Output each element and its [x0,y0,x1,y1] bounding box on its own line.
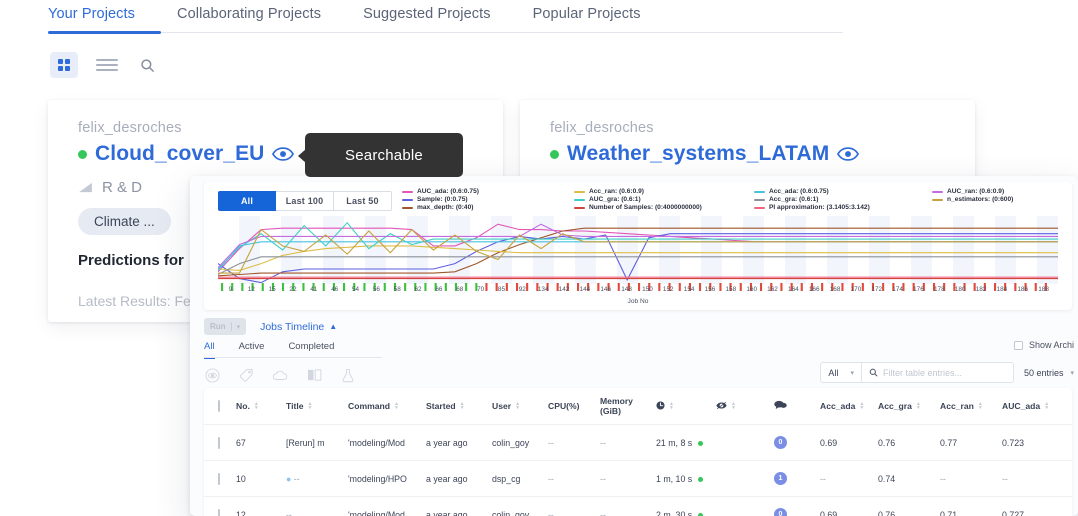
legend-swatch [754,207,765,209]
legend-item[interactable]: Acc_gra: (0.6:1) [754,196,932,203]
cell-acc-gra: 0.76 [878,425,940,461]
table-filters: All ▾ Filter table entries... 50 entries… [820,362,1074,383]
sort-icon[interactable]: ▲▼ [916,402,921,410]
th-label: CPU(%) [548,401,580,411]
th-title[interactable]: Title▲▼ [286,388,348,425]
search-icon[interactable] [136,54,158,76]
cell-cpu: -- [548,497,600,516]
entries-per-page-select[interactable]: 50 entries ▾ [1024,368,1074,378]
grid-view-icon [58,59,70,71]
cell-started: a year ago [426,461,492,497]
row-checkbox[interactable] [218,509,220,516]
status-dot [698,477,703,482]
cell-acc-ran: 0.71 [940,497,1002,516]
x-tick-label: 9 [229,286,233,293]
entries-per-page-value: 50 entries [1024,368,1064,378]
row-checkbox[interactable] [218,473,220,485]
sort-icon[interactable]: ▲▼ [978,402,983,410]
x-tick-label: 154 [684,286,695,293]
x-tick-label: 188 [1038,286,1049,293]
x-tick-label: 182 [976,286,987,293]
th-comments[interactable] [774,388,820,425]
th-no[interactable]: No.▲▼ [236,388,286,425]
x-tick-label: 162 [767,286,778,293]
jobs-table: No.▲▼ Title▲▼ Command▲▼ Started▲▼ User▲▼… [204,388,1072,516]
x-tick-label: 54 [352,286,359,293]
x-tick-label: 134 [538,286,549,293]
legend-label: Acc_ada: (0.6:0.75) [769,188,829,195]
legend-label: AUC_ada: (0.6:0.75) [417,188,479,195]
row-checkbox-cell[interactable] [204,461,236,497]
legend-item[interactable]: AUC_gra: (0.6:1) [574,196,754,203]
sort-icon[interactable]: ▲▼ [859,402,864,410]
row-checkbox[interactable] [218,437,220,449]
cell-user: colin_goy [492,497,548,516]
duration-text: 1 m, 10 s [656,474,692,484]
cell-memory: -- [600,461,656,497]
chevron-down-icon: ▾ [850,369,854,377]
row-checkbox-cell[interactable] [204,497,236,516]
eye-hidden-icon [716,401,727,412]
duration-text: 2 m, 30 s [656,510,692,516]
card-owner: felix_desroches [550,120,951,136]
table-row[interactable]: 12 -- 'modeling/Mod a year ago colin_goy… [204,497,1072,516]
job-tick-marks [218,278,1058,286]
th-label: Acc_ran [940,401,974,411]
x-tick-label: 66 [435,286,442,293]
status-badge [550,150,559,159]
cell-comments: 1 [774,461,820,497]
tag-icon[interactable] [238,367,254,383]
x-tick-label: 12 [248,286,255,293]
th-acc-ran[interactable]: Acc_ran▲▼ [940,388,1002,425]
legend-swatch [402,191,413,193]
legend-label: PI approximation: (3.1405:3.142) [769,204,870,211]
legend-label: Sample: (0:0.75) [417,196,468,203]
cell-title: -- [286,497,348,516]
legend-swatch [932,191,943,193]
th-select-all[interactable] [204,388,236,425]
th-label: Started [426,401,456,411]
legend-swatch [402,207,413,209]
th-duration[interactable]: ▲▼ [656,388,716,425]
legend-label: AUC_gra: (0.6:1) [589,196,641,203]
comment-icon [774,402,787,412]
legend-item[interactable]: Acc_ada: (0.6:0.75) [754,188,932,195]
x-tick-label: 22 [289,286,296,293]
experiment-dashboard-panel: All Last 100 Last 50 AUC_ada: (0.6:0.75)… [190,176,1078,516]
comment-count-badge: 0 [774,508,787,516]
sort-icon[interactable]: ▲▼ [669,402,674,410]
signal-icon [78,182,93,193]
cell-memory: -- [600,497,656,516]
searchable-tooltip: Searchable [305,133,463,177]
x-tick-label: 85 [498,286,505,293]
projects-tabbar: Your Projects Collaborating Projects Sug… [0,0,1078,36]
legend-item[interactable]: n_estimators: (0:600) [932,196,1062,203]
range-tab-last-50[interactable]: Last 50 [334,191,392,211]
sort-icon[interactable]: ▲▼ [308,402,313,410]
filter-column-value: All [828,368,838,378]
x-tick-label: 178 [934,286,945,293]
cell-visibility [716,425,774,461]
legend-swatch [574,199,585,201]
legend-swatch [754,191,765,193]
cloud-icon[interactable] [272,367,288,383]
th-label: Command [348,401,390,411]
cell-cpu: -- [548,461,600,497]
eye-icon[interactable] [272,147,294,161]
list-view-icon[interactable] [96,54,118,76]
cell-command: 'modeling/Mod [348,425,426,461]
compare-icon[interactable] [306,367,322,383]
jobs-line-chart [218,216,1058,284]
jobs-action-icons [204,367,356,383]
cell-acc-ran: -- [940,461,1002,497]
jobs-timeline-toggle[interactable]: Jobs Timeline ▲ [260,321,337,333]
th-command[interactable]: Command▲▼ [348,388,426,425]
legend-item[interactable]: AUC_ada: (0.6:0.75) [402,188,574,195]
sort-icon[interactable]: ▲▼ [460,402,465,410]
experiment-icon[interactable] [340,367,356,383]
chart-range-tabs: All Last 100 Last 50 [218,191,392,211]
app-root: Your Projects Collaborating Projects Sug… [0,0,1078,516]
legend-swatch [574,191,585,193]
cell-acc-ada: -- [820,461,878,497]
th-user[interactable]: User▲▼ [492,388,548,425]
cell-comments: 0 [774,497,820,516]
x-tick-label: 68 [456,286,463,293]
x-tick-label: 148 [621,286,632,293]
tab-collaborating-projects[interactable]: Collaborating Projects [177,0,321,33]
run-button-divider [231,322,232,331]
filter-search-box[interactable]: Filter table entries... [862,362,1014,383]
x-tick-label: 172 [871,286,882,293]
cell-visibility [716,497,774,516]
legend-item[interactable]: AUC_ran: (0.6:0.9) [932,188,1062,195]
show-archived-checkbox[interactable] [1014,341,1023,350]
x-tick-label: 58 [394,286,401,293]
status-dot [698,441,703,446]
th-label: Title [286,401,304,411]
filter-input-placeholder: Filter table entries... [883,368,962,378]
x-tick-label: 158 [725,286,736,293]
cell-auc-ada: 0.727 [1002,497,1072,516]
th-label: Acc_ada [820,401,855,411]
x-tick-label: 62 [415,286,422,293]
legend-label: max_depth: (0:40) [417,204,473,211]
view-controls [50,52,158,78]
legend-label: Acc_ran: (0.6:0.9) [589,188,644,195]
chart-svg [218,216,1058,284]
sort-icon[interactable]: ▲▼ [394,402,399,410]
chart-legend: AUC_ada: (0.6:0.75) Sample: (0:0.75) max… [402,188,1062,211]
cell-duration: 2 m, 30 s [656,497,716,516]
run-button-label: Run [210,322,226,331]
x-tick-label: 176 [913,286,924,293]
cell-user: dsp_cg [492,461,548,497]
x-tick-label: 186 [1017,286,1028,293]
cell-no: 12 [236,497,286,516]
cell-started: a year ago [426,425,492,461]
cell-visibility [716,461,774,497]
select-all-checkbox[interactable] [218,400,220,412]
legend-label: AUC_ran: (0.6:0.9) [947,188,1004,195]
chevron-down-icon[interactable]: ▾ [237,323,241,331]
active-tab-indicator [48,31,161,34]
legend-swatch [574,207,585,209]
th-acc-gra[interactable]: Acc_gra▲▼ [878,388,940,425]
legend-label: Number of Samples: (0:4000000000) [589,204,702,211]
x-tick-label: 166 [809,286,820,293]
th-acc-ada[interactable]: Acc_ada▲▼ [820,388,878,425]
x-tick-label: 70 [477,286,484,293]
chevron-down-icon: ▾ [1070,369,1074,377]
range-tab-last-100[interactable]: Last 100 [276,191,334,211]
th-label: No. [236,401,250,411]
eye-icon[interactable] [204,367,220,383]
comment-count-badge: 0 [774,436,787,449]
x-tick-label: 142 [559,286,570,293]
legend-item[interactable]: Number of Samples: (0:4000000000) [574,204,754,211]
legend-item[interactable]: max_depth: (0:40) [402,204,574,211]
clock-icon [656,401,665,412]
cell-acc-gra: 0.76 [878,497,940,516]
legend-swatch [932,199,943,201]
legend-label: n_estimators: (0:600) [947,196,1013,203]
x-tick-label: 170 [851,286,862,293]
sort-icon[interactable]: ▲▼ [515,402,520,410]
cell-acc-gra: 0.74 [878,461,940,497]
show-archived-label: Show Archi [1029,340,1074,350]
range-tab-all[interactable]: All [218,191,276,211]
x-tick-label: 146 [600,286,611,293]
cell-duration: 21 m, 8 s [656,425,716,461]
chart-x-axis-label: Job No [204,298,1072,305]
x-tick-label: 152 [663,286,674,293]
cell-auc-ada: -- [1002,461,1072,497]
x-tick-label: 184 [997,286,1008,293]
x-tick-label: 180 [955,286,966,293]
legend-item[interactable]: Sample: (0:0.75) [402,196,574,203]
project-title-link[interactable]: Cloud_cover_EU [95,142,264,166]
droplet-icon: ● [286,474,291,484]
filter-column-select[interactable]: All ▾ [820,362,862,383]
th-started[interactable]: Started▲▼ [426,388,492,425]
sort-icon[interactable]: ▲▼ [731,402,736,410]
th-label: Acc_gra [878,401,912,411]
x-tick-label: 144 [580,286,591,293]
x-tick-label: 168 [830,286,841,293]
sort-icon[interactable]: ▲▼ [254,402,259,410]
search-icon [869,364,878,382]
cell-command: 'modeling/Mod [348,497,426,516]
comment-count-badge: 1 [774,472,787,485]
x-tick-label: 56 [373,286,380,293]
tab-popular-projects[interactable]: Popular Projects [533,0,641,33]
th-visibility[interactable]: ▲▼ [716,388,774,425]
x-tick-label: 160 [746,286,757,293]
cell-user: colin_goy [492,425,548,461]
th-memory[interactable]: Memory (GiB) [600,388,656,425]
legend-swatch [402,199,413,201]
table-row[interactable]: 67 [Rerun] m 'modeling/Mod a year ago co… [204,425,1072,461]
jobs-tabs-divider [204,357,382,358]
x-tick-label: 156 [705,286,716,293]
x-tick-label: 164 [788,286,799,293]
cell-title: ● -- [286,461,348,497]
project-title-link[interactable]: Weather_systems_LATAM [567,142,829,166]
cell-acc-ada: 0.69 [820,497,878,516]
th-label: User [492,401,511,411]
tab-suggested-projects[interactable]: Suggested Projects [363,0,491,33]
legend-item[interactable]: Acc_ran: (0.6:0.9) [574,188,754,195]
duration-text: 21 m, 8 s [656,438,692,448]
table-header-row: No.▲▼ Title▲▼ Command▲▼ Started▲▼ User▲▼… [204,388,1072,425]
cell-comments: 0 [774,425,820,461]
cell-command: 'modeling/HPO [348,461,426,497]
cell-acc-ada: 0.69 [820,425,878,461]
th-label: AUC_ada [1002,401,1040,411]
th-auc-ada[interactable]: AUC_ada▲▼ [1002,388,1072,425]
tab-your-projects[interactable]: Your Projects [48,0,135,33]
x-tick-label: 41 [310,286,317,293]
legend-label: Acc_gra: (0.6:1) [769,196,818,203]
x-tick-label: 174 [892,286,903,293]
card-tag-chip[interactable]: Climate ... [78,208,171,235]
title-text: -- [294,474,300,484]
cell-duration: 1 m, 10 s [656,461,716,497]
cell-title: [Rerun] m [286,425,348,461]
table-row[interactable]: 10 ● -- 'modeling/HPO a year ago dsp_cg … [204,461,1072,497]
th-label: Memory (GiB) [600,396,656,416]
x-tick-label: 150 [642,286,653,293]
eye-icon[interactable] [837,147,859,161]
cell-memory: -- [600,425,656,461]
status-badge [78,150,87,159]
jobs-chart-card: All Last 100 Last 50 AUC_ada: (0.6:0.75)… [204,182,1072,310]
cell-no: 10 [236,461,286,497]
chart-x-axis: 9121522414654565862666870859213414214414… [212,286,1068,298]
grid-view-button[interactable] [50,52,78,78]
x-tick-label: 46 [331,286,338,293]
row-checkbox-cell[interactable] [204,425,236,461]
legend-swatch [754,199,765,201]
show-archived-toggle[interactable]: Show Archi [1014,340,1074,350]
caret-up-icon: ▲ [329,322,337,331]
th-cpu[interactable]: CPU(%) [548,388,600,425]
jobs-timeline-header: Run ▾ Jobs Timeline ▲ [204,318,337,335]
x-tick-label: 15 [269,286,276,293]
jobs-timeline-label: Jobs Timeline [260,321,324,333]
cell-started: a year ago [426,497,492,516]
sort-icon[interactable]: ▲▼ [1044,402,1049,410]
legend-item[interactable]: PI approximation: (3.1405:3.142) [754,204,932,211]
x-tick-label: 92 [519,286,526,293]
cell-cpu: -- [548,425,600,461]
cell-no: 67 [236,425,286,461]
cell-auc-ada: 0.723 [1002,425,1072,461]
cell-acc-ran: 0.77 [940,425,1002,461]
run-button[interactable]: Run ▾ [204,318,246,335]
card-meta-label: R & D [102,179,142,196]
